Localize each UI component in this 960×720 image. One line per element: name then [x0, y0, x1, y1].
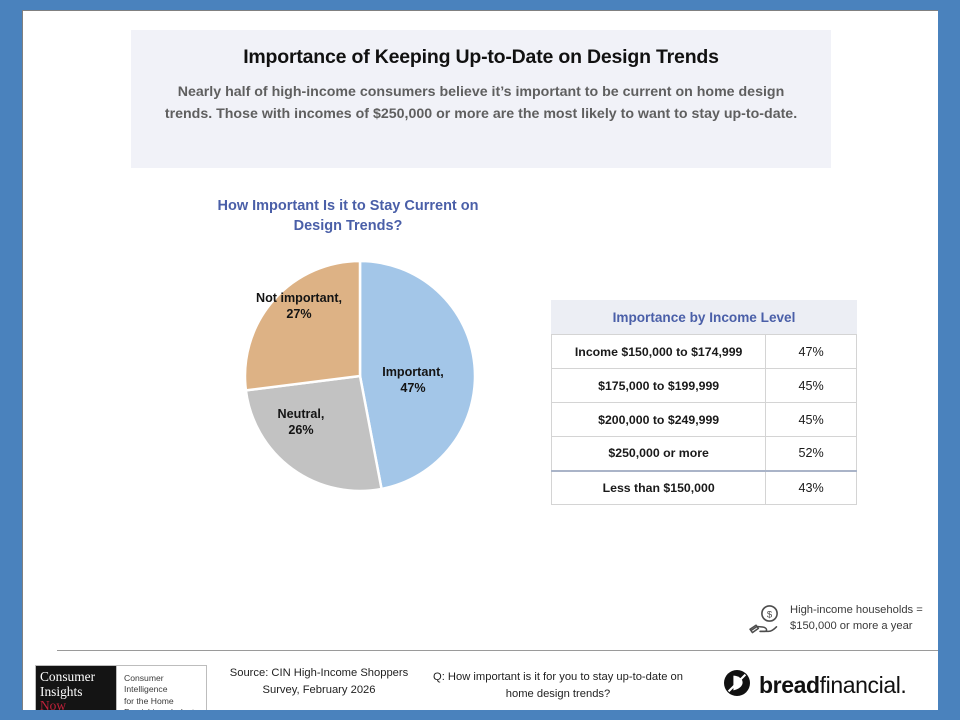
header-subtitle: Nearly half of high-income consumers bel…	[157, 81, 805, 125]
cin-logo-mark: Consumer Insights Now	[36, 666, 116, 710]
table-row: $175,000 to $199,99945%	[552, 369, 857, 403]
bread-financial-logo: breadfinancial.	[723, 669, 906, 702]
table-row: Income $150,000 to $174,99947%	[552, 335, 857, 369]
bread-financial-mark-icon	[723, 669, 751, 702]
survey-question-text: Q: How important is it for you to stay u…	[423, 669, 693, 703]
cin-logo-line1: Consumer	[40, 670, 116, 685]
bread-word: bread	[759, 672, 820, 698]
pie-slice	[245, 261, 360, 390]
footer: Consumer Insights Now Consumer Intellige…	[23, 657, 938, 710]
table-cell-income-level: Income $150,000 to $174,999	[552, 335, 766, 369]
hand-holding-coin-icon: $	[749, 604, 783, 641]
source-text: Source: CIN High-Income Shoppers Survey,…	[219, 665, 419, 699]
table-cell-percent: 47%	[766, 335, 857, 369]
table-cell-percent: 45%	[766, 403, 857, 437]
table-row: $250,000 or more52%	[552, 437, 857, 471]
chart-title: How Important Is it to Stay Current on D…	[203, 196, 493, 237]
cin-logo-tagline: Consumer Intelligence for the Home Furni…	[116, 666, 206, 710]
pie-label-important: Important, 47%	[361, 365, 465, 397]
pie-label-neutral: Neutral, 26%	[253, 407, 349, 439]
header-callout: Importance of Keeping Up-to-Date on Desi…	[131, 30, 831, 168]
table-cell-percent: 52%	[766, 437, 857, 471]
table-cell-income-level: Less than $150,000	[552, 471, 766, 505]
svg-text:$: $	[767, 609, 773, 620]
table-row: Less than $150,00043%	[552, 471, 857, 505]
slide-canvas: Importance of Keeping Up-to-Date on Desi…	[22, 10, 938, 710]
table-caption: Importance by Income Level	[551, 300, 857, 334]
high-income-note-text: High-income households = $150,000 or mor…	[790, 603, 923, 635]
page-title: Importance of Keeping Up-to-Date on Desi…	[157, 44, 805, 70]
slide: Importance of Keeping Up-to-Date on Desi…	[0, 0, 960, 720]
table-cell-percent: 45%	[766, 369, 857, 403]
pie-label-not-important: Not important, 27%	[249, 291, 349, 323]
table-cell-income-level: $250,000 or more	[552, 437, 766, 471]
table-row: $200,000 to $249,99945%	[552, 403, 857, 437]
table-cell-percent: 43%	[766, 471, 857, 505]
table-cell-income-level: $200,000 to $249,999	[552, 403, 766, 437]
footer-divider	[57, 650, 938, 651]
pie-chart: Important, 47% Neutral, 26% Not importan…	[243, 259, 477, 493]
financial-word: financial.	[820, 672, 907, 698]
importance-by-income-table: Importance by Income Level Income $150,0…	[551, 300, 857, 505]
bread-financial-wordmark: breadfinancial.	[759, 672, 906, 699]
table-cell-income-level: $175,000 to $199,999	[552, 369, 766, 403]
consumer-insights-now-logo: Consumer Insights Now Consumer Intellige…	[35, 665, 207, 710]
cin-logo-line2: Insights	[40, 685, 116, 700]
cin-logo-line3: Now	[40, 699, 116, 710]
high-income-note: $ High-income households = $150,000 or m…	[749, 603, 938, 641]
